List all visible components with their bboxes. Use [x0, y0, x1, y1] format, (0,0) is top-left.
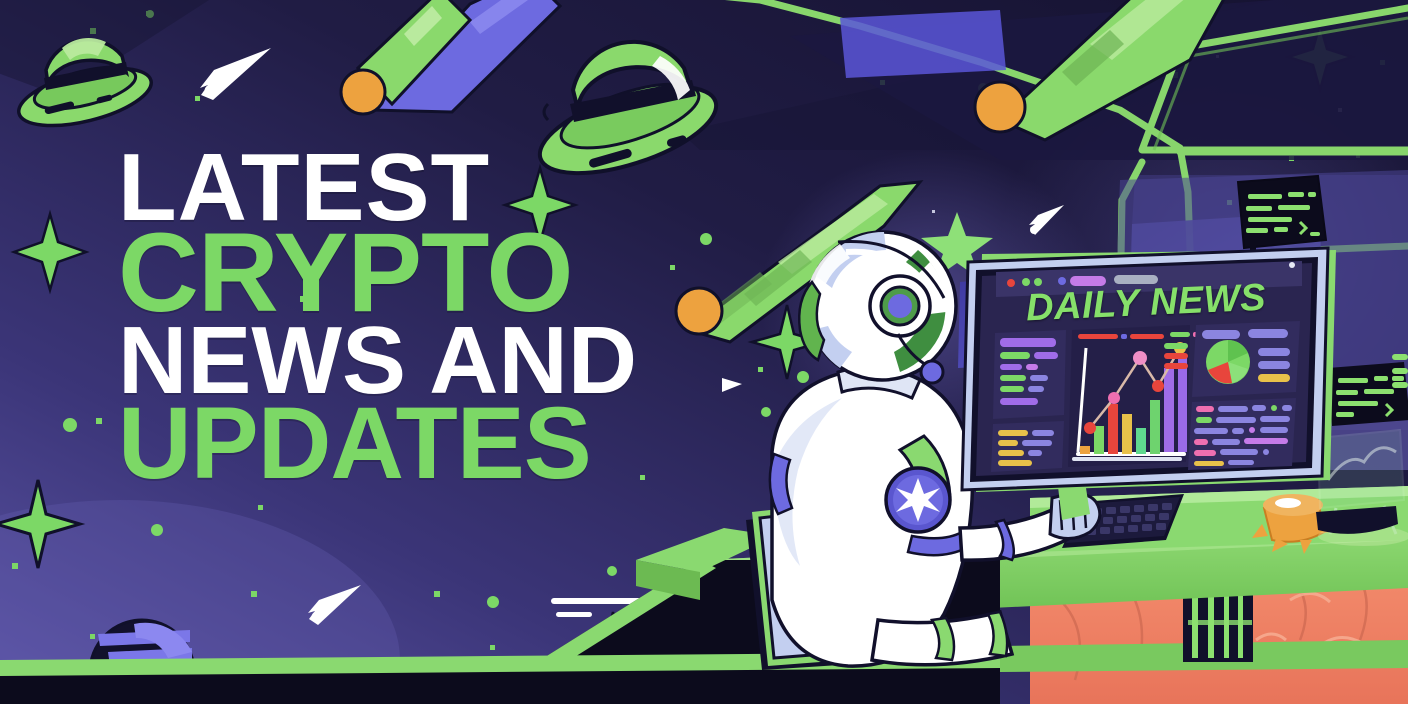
- headline-line-4: UPDATES: [118, 399, 637, 489]
- window-dot-min: [1022, 278, 1030, 286]
- page-title: LATEST CRYPTO NEWS AND UPDATES: [118, 146, 637, 489]
- window-dot-close: [1007, 279, 1015, 287]
- banner-illustration: LATEST CRYPTO NEWS AND UPDATES DAILY NEW…: [0, 0, 1408, 704]
- window-dot-max: [1034, 278, 1042, 286]
- pie-chart: [1206, 340, 1250, 384]
- tab-dot: [1058, 277, 1066, 285]
- tab-inactive: [1114, 275, 1158, 284]
- screen-left-panel: [991, 330, 1066, 472]
- tab-active: [1070, 276, 1106, 286]
